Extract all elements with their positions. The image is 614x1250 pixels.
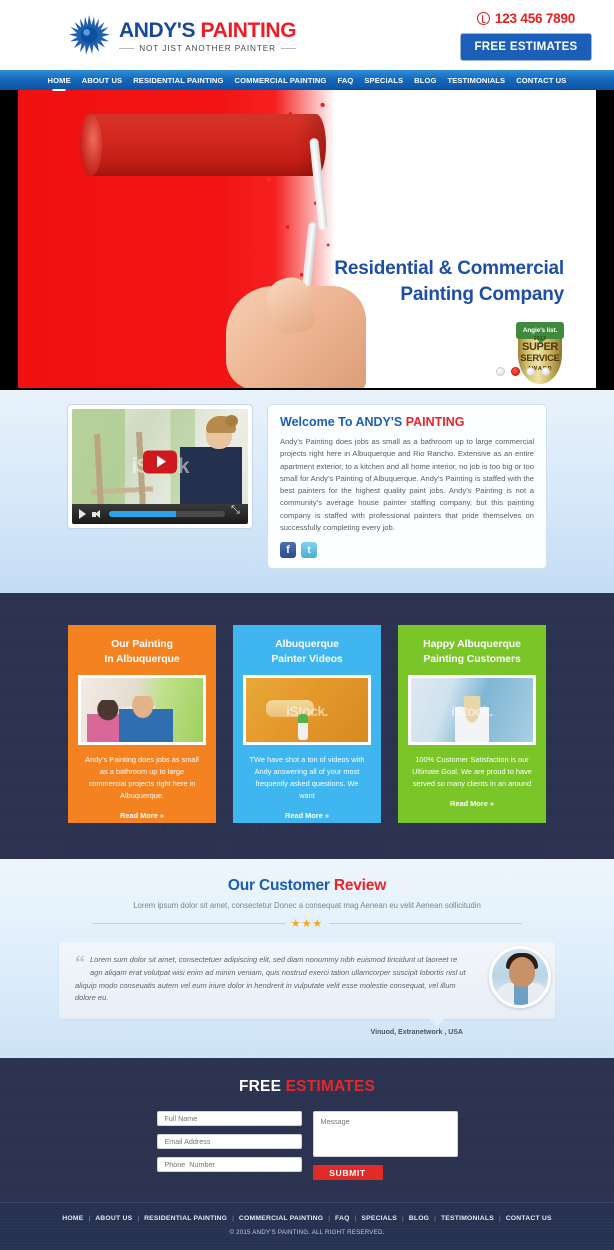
copyright-text: © 2015 ANDY'S PAINTING. ALL RIGHT RESERV… xyxy=(0,1229,614,1236)
paint-roller-icon xyxy=(80,114,326,176)
hero-dot-4[interactable] xyxy=(541,367,550,376)
logo-title: ANDY'S PAINTING xyxy=(119,20,296,41)
review-quote-wrapper: “ Lorem sum dolor sit amet, consectetuer… xyxy=(59,942,555,1020)
footer-separator: | xyxy=(328,1215,330,1222)
nav-item-about-us[interactable]: ABOUT US xyxy=(82,76,122,85)
avatar-collar xyxy=(514,985,528,1005)
hero-slider[interactable]: Angie's list. 2013 SUPER SERVICE AWARD R… xyxy=(18,90,596,388)
free-estimates-button[interactable]: FREE ESTIMATES xyxy=(460,33,591,61)
service-card-title: Albuquerque Painter Videos xyxy=(243,637,371,666)
service-card-body: TWe have shot a ton of videos with Andy … xyxy=(247,754,367,801)
play-icon[interactable] xyxy=(79,509,86,519)
footer-link-blog[interactable]: BLOG xyxy=(409,1215,429,1222)
full-name-input[interactable] xyxy=(157,1111,302,1126)
form-title: FREE ESTIMATES xyxy=(0,1078,614,1096)
phone-row[interactable]: 123 456 7890 xyxy=(456,11,596,26)
site-footer: HOME | ABOUT US | RESIDENTIAL PAINTING |… xyxy=(0,1202,614,1250)
phone-number-input[interactable] xyxy=(157,1157,302,1172)
twitter-icon[interactable]: t xyxy=(301,542,317,558)
service-photo-image: iStock. xyxy=(246,678,368,742)
footer-separator: | xyxy=(355,1215,357,1222)
video-progress-scrubber[interactable] xyxy=(109,511,225,517)
footer-link-commercial-painting[interactable]: COMMERCIAL PAINTING xyxy=(239,1215,323,1222)
photo-watermark: iStock. xyxy=(246,703,368,719)
email-address-input[interactable] xyxy=(157,1134,302,1149)
service-card-title-line1: Our Painting xyxy=(111,638,173,650)
service-card-photo: iStock. xyxy=(408,675,536,745)
welcome-title: Welcome To ANDY'S PAINTING xyxy=(280,415,534,429)
fullscreen-icon[interactable] xyxy=(231,509,241,519)
footer-link-home[interactable]: HOME xyxy=(62,1215,83,1222)
badge-line2: SERVICE xyxy=(515,354,565,364)
review-quote-text: Lorem sum dolor sit amet, consectetuer a… xyxy=(75,954,471,1006)
footer-separator: | xyxy=(402,1215,404,1222)
phone-number: 123 456 7890 xyxy=(495,11,575,26)
badge-line1: SUPER xyxy=(515,342,565,354)
footer-navigation: HOME | ABOUT US | RESIDENTIAL PAINTING |… xyxy=(0,1215,614,1222)
photo-watermark: iStock. xyxy=(81,703,203,719)
review-subtitle: Lorem ipsum dolor sit amet, consectetur … xyxy=(0,901,614,910)
welcome-title-accent: PAINTING xyxy=(406,415,465,429)
photo-watermark: iStock. xyxy=(411,703,533,719)
service-photo-image: iStock. xyxy=(81,678,203,742)
nav-item-specials[interactable]: SPECIALS xyxy=(364,76,403,85)
hero-headline-line2: Painting Company xyxy=(264,282,564,308)
painter-bun-graphic xyxy=(225,415,238,427)
hero-band: Angie's list. 2013 SUPER SERVICE AWARD R… xyxy=(0,90,614,390)
form-left-column xyxy=(157,1111,302,1180)
social-links: f t xyxy=(280,542,534,558)
service-card-title-line1: Happy Albuquerque xyxy=(423,638,521,650)
phone-icon xyxy=(477,12,490,25)
read-more-link[interactable]: Read More » xyxy=(285,811,329,820)
logo-tagline-text: NOT JIST ANOTHER PAINTER xyxy=(139,44,276,53)
nav-item-home[interactable]: HOME xyxy=(48,76,71,85)
video-controls-bar xyxy=(72,504,248,524)
nav-item-blog[interactable]: BLOG xyxy=(414,76,436,85)
form-title-accent: ESTIMATES xyxy=(286,1078,375,1095)
customer-review-section: Our Customer Review Lorem ipsum dolor si… xyxy=(0,859,614,1059)
service-card-title: Our Painting In Albuquerque xyxy=(78,637,206,666)
customer-avatar xyxy=(489,946,551,1008)
service-photo-image: iStock. xyxy=(411,678,533,742)
paint-drip-edge xyxy=(68,821,216,857)
hero-headline: Residential & Commercial Painting Compan… xyxy=(264,256,564,308)
free-estimates-section: FREE ESTIMATES SUBMIT xyxy=(0,1058,614,1202)
avatar-head xyxy=(509,957,535,987)
estimate-form: SUBMIT xyxy=(156,1111,458,1180)
nav-item-faq[interactable]: FAQ xyxy=(337,76,353,85)
welcome-card: Welcome To ANDY'S PAINTING Andy’s Painti… xyxy=(267,404,547,569)
site-header: ANDY'S PAINTING NOT JIST ANOTHER PAINTER… xyxy=(0,0,614,70)
logo-title-first: ANDY'S xyxy=(119,19,195,42)
header-contact-block: 123 456 7890 FREE ESTIMATES xyxy=(456,11,596,61)
service-card-title-line2: Painting Customers xyxy=(423,653,520,665)
paint-splat-icon xyxy=(66,12,112,58)
footer-link-specials[interactable]: SPECIALS xyxy=(361,1215,397,1222)
services-section: Our Painting In Albuquerque iStock. Andy… xyxy=(0,593,614,858)
review-title: Our Customer Review xyxy=(0,877,614,895)
service-card-body: 100% Customer Satisfaction is our Ultima… xyxy=(412,754,532,790)
read-more-link[interactable]: Read More » xyxy=(450,799,494,808)
read-more-link[interactable]: Read More » xyxy=(120,811,164,820)
footer-separator: | xyxy=(137,1215,139,1222)
intro-video-player[interactable]: iStock xyxy=(67,404,253,529)
review-title-prefix: Our Customer xyxy=(228,877,334,894)
submit-button[interactable]: SUBMIT xyxy=(313,1165,383,1180)
site-logo[interactable]: ANDY'S PAINTING NOT JIST ANOTHER PAINTER xyxy=(66,12,296,58)
review-stars-divider: ★★★ xyxy=(92,917,522,930)
quote-mark-icon: “ xyxy=(75,956,85,971)
footer-separator: | xyxy=(232,1215,234,1222)
service-card-body: Andy’s Painting does jobs as small as a … xyxy=(82,754,202,801)
review-quote-box: “ Lorem sum dolor sit amet, consectetuer… xyxy=(59,942,555,1020)
footer-link-contact-us[interactable]: CONTACT US xyxy=(506,1215,552,1222)
facebook-icon[interactable]: f xyxy=(280,542,296,558)
hero-dot-3[interactable] xyxy=(526,367,535,376)
service-card-photo: iStock. xyxy=(78,675,206,745)
main-navigation: HOME ABOUT US RESIDENTIAL PAINTING COMME… xyxy=(0,70,614,90)
service-card-title: Happy Albuquerque Painting Customers xyxy=(408,637,536,666)
footer-separator: | xyxy=(499,1215,501,1222)
nav-item-residential-painting[interactable]: RESIDENTIAL PAINTING xyxy=(133,76,223,85)
welcome-title-prefix: Welcome To ANDY'S xyxy=(280,415,406,429)
hero-slider-pagination xyxy=(496,367,550,376)
service-card-photo: iStock. xyxy=(243,675,371,745)
star-rating-icon: ★★★ xyxy=(291,917,324,930)
message-textarea[interactable] xyxy=(313,1111,458,1157)
nav-item-contact-us[interactable]: CONTACT US xyxy=(516,76,566,85)
footer-link-residential-painting[interactable]: RESIDENTIAL PAINTING xyxy=(144,1215,227,1222)
service-card-our-painting[interactable]: Our Painting In Albuquerque iStock. Andy… xyxy=(68,625,216,822)
tagline-rule-left xyxy=(119,48,134,49)
form-right-column: SUBMIT xyxy=(313,1111,458,1180)
hero-headline-line1: Residential & Commercial xyxy=(264,256,564,282)
service-card-happy-customers[interactable]: Happy Albuquerque Painting Customers iSt… xyxy=(398,625,546,822)
hero-dot-2-active[interactable] xyxy=(511,367,520,376)
badge-brand-text: Angie's list. xyxy=(523,327,557,334)
footer-link-testimonials[interactable]: TESTIMONIALS xyxy=(441,1215,494,1222)
youtube-play-icon[interactable] xyxy=(143,450,177,473)
nav-item-testimonials[interactable]: TESTIMONIALS xyxy=(447,76,505,85)
service-card-title-line1: Albuquerque xyxy=(275,638,339,650)
volume-icon[interactable] xyxy=(92,510,103,519)
logo-tagline: NOT JIST ANOTHER PAINTER xyxy=(119,44,296,53)
review-title-accent: Review xyxy=(334,877,386,894)
service-card-title-line2: In Albuquerque xyxy=(104,653,179,665)
footer-link-about-us[interactable]: ABOUT US xyxy=(95,1215,132,1222)
service-card-painter-videos[interactable]: Albuquerque Painter Videos iStock. TWe h… xyxy=(233,625,381,822)
video-progress-fill xyxy=(109,511,176,517)
divider-line-left xyxy=(92,923,285,924)
footer-separator: | xyxy=(88,1215,90,1222)
video-screen: iStock xyxy=(72,409,248,524)
paint-drip-edge xyxy=(233,821,381,857)
logo-title-second: PAINTING xyxy=(201,19,297,42)
service-card-title-line2: Painter Videos xyxy=(271,653,342,665)
divider-line-right xyxy=(329,923,522,924)
nav-item-commercial-painting[interactable]: COMMERCIAL PAINTING xyxy=(235,76,327,85)
welcome-body-text: Andy’s Painting does jobs as small as a … xyxy=(280,436,534,534)
footer-separator: | xyxy=(434,1215,436,1222)
footer-link-faq[interactable]: FAQ xyxy=(335,1215,350,1222)
review-author: Vinuod, Extranetwork , USA xyxy=(59,1029,555,1036)
paint-roller-cap xyxy=(80,114,102,176)
tagline-rule-right xyxy=(281,48,296,49)
welcome-section: iStock Welcome To ANDY'S PAINTING Andy’s… xyxy=(0,390,614,593)
hero-dot-1[interactable] xyxy=(496,367,505,376)
paint-drip-edge xyxy=(398,821,546,857)
form-title-prefix: FREE xyxy=(239,1078,286,1095)
